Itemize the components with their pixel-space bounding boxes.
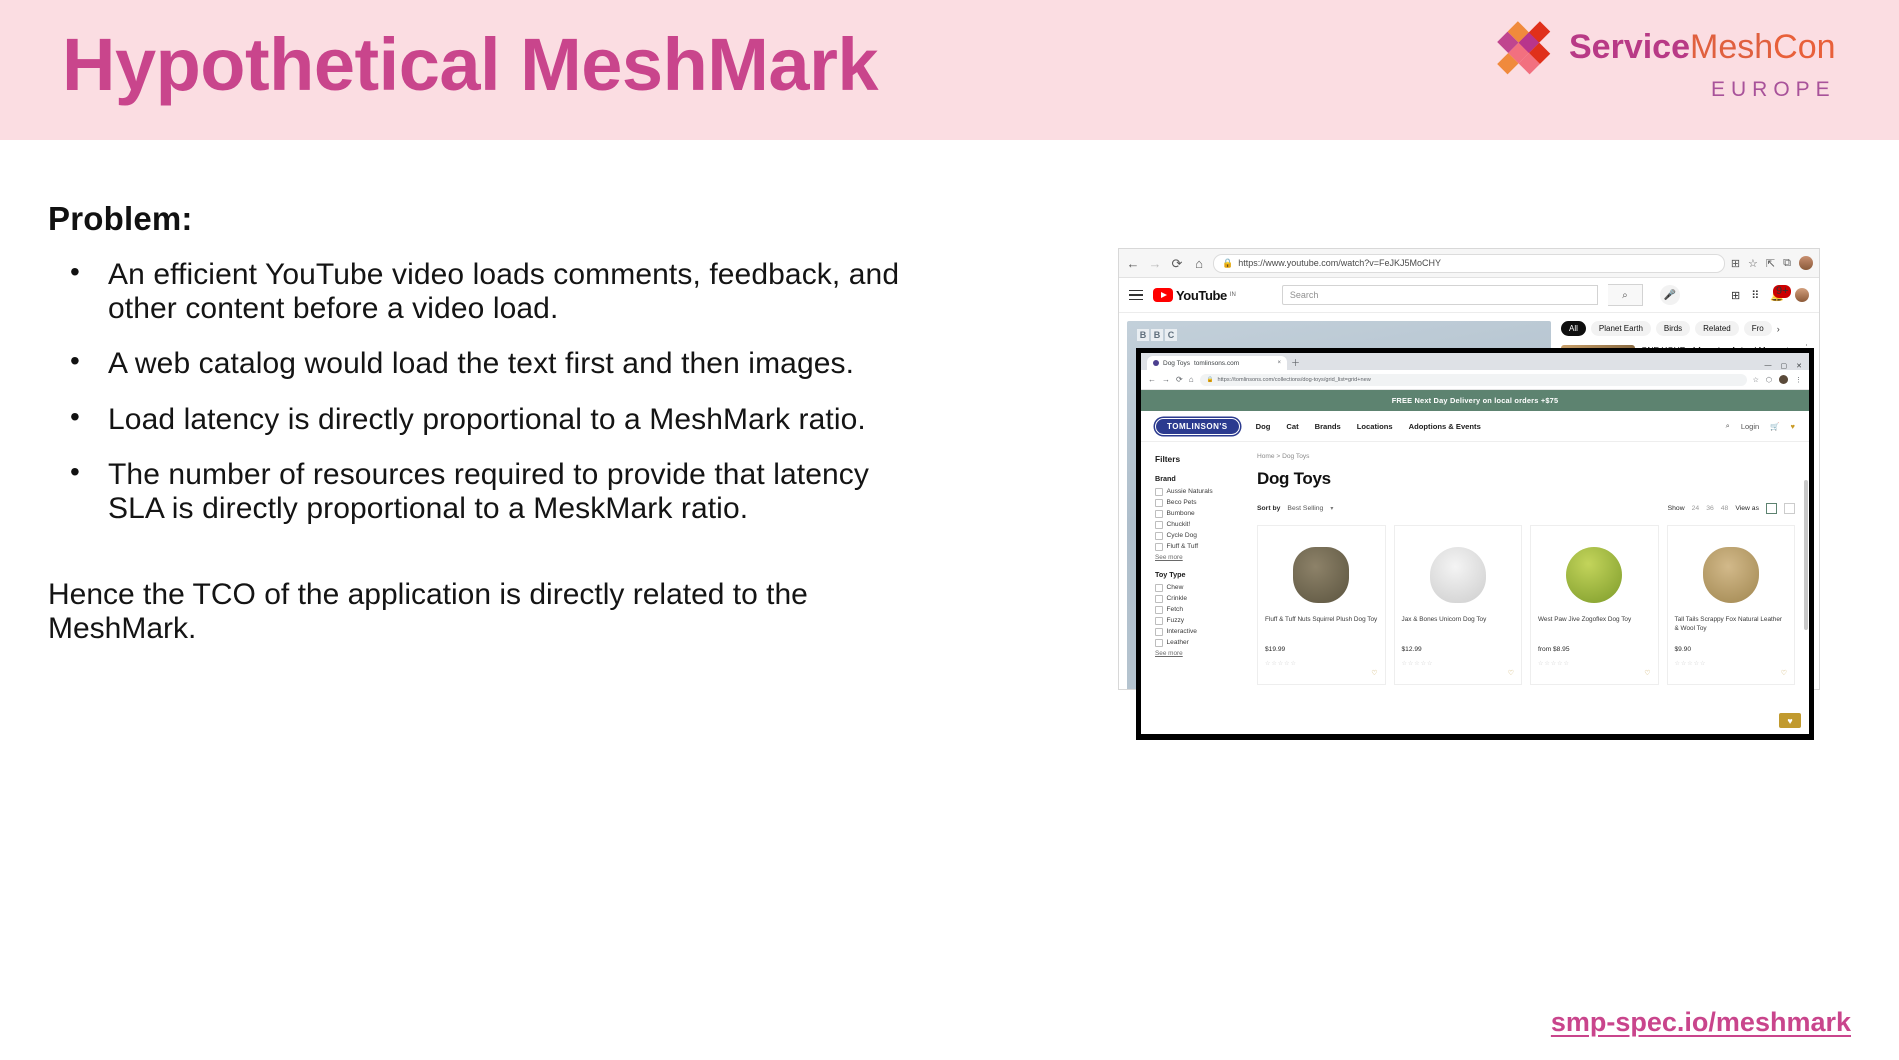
closing-paragraph: Hence the TCO of the application is dire…: [48, 578, 808, 647]
product-price: $9.90: [1675, 646, 1788, 653]
favorite-icon[interactable]: ☆: [1748, 257, 1758, 270]
minimize-icon[interactable]: —: [1765, 362, 1772, 370]
close-window-icon[interactable]: ✕: [1796, 362, 1802, 370]
browser-tab[interactable]: Dog Toys tomlinsons.com ×: [1147, 356, 1287, 370]
problem-heading: Problem:: [48, 200, 908, 238]
product-name: West Paw Jive Zogoflex Dog Toy: [1538, 616, 1651, 640]
slide-body: Problem: An efficient YouTube video load…: [48, 200, 908, 647]
filter-option[interactable]: Chew: [1155, 584, 1239, 592]
filter-label: Crinkle: [1167, 595, 1188, 602]
notifications-icon[interactable]: 🔔 9+: [1770, 289, 1784, 302]
scrollbar[interactable]: [1804, 480, 1808, 630]
product-image: [1675, 534, 1788, 616]
bbc-watermark-icon: B B C: [1137, 329, 1177, 341]
product-card[interactable]: Jax & Bones Unicorn Dog Toy $12.99 ☆☆☆☆☆…: [1394, 525, 1523, 685]
grid-view-icon[interactable]: [1766, 503, 1777, 514]
youtube-masthead: YouTube IN Search ⌕ 🎤 ⊞ ⠿ 🔔 9+: [1119, 278, 1819, 313]
product-name: Tall Tails Scrappy Fox Natural Leather &…: [1675, 616, 1788, 640]
rating-stars: ☆☆☆☆☆: [1538, 660, 1651, 667]
sort-label: Sort by: [1257, 505, 1280, 512]
add-to-wishlist-icon[interactable]: ♡: [1781, 669, 1787, 677]
youtube-account-icons: ⊞ ⠿ 🔔 9+: [1731, 288, 1809, 302]
browser-menu-icon[interactable]: ⋮: [1795, 376, 1802, 384]
tomlinsons-browser-window: Dog Toys tomlinsons.com × ＋ — ▢ ✕ ← → ⟳ …: [1136, 348, 1814, 740]
close-icon[interactable]: ×: [1277, 360, 1281, 366]
search-icon[interactable]: ⌕: [1608, 284, 1643, 306]
list-item: Load latency is directly proportional to…: [48, 403, 908, 437]
search-icon[interactable]: ⌕: [1726, 421, 1730, 431]
microphone-icon[interactable]: 🎤: [1660, 285, 1680, 305]
nav-item-dog[interactable]: Dog: [1256, 422, 1271, 431]
filter-label: Chuckit!: [1167, 521, 1191, 528]
product-card[interactable]: Tall Tails Scrappy Fox Natural Leather &…: [1667, 525, 1796, 685]
unicorn-plush-icon: [1430, 547, 1486, 603]
extensions-icon[interactable]: ⬡: [1766, 376, 1772, 384]
checkbox-icon[interactable]: [1155, 543, 1163, 551]
filters-title: Filters: [1155, 454, 1239, 464]
tomlinsons-browser-inner: Dog Toys tomlinsons.com × ＋ — ▢ ✕ ← → ⟳ …: [1141, 353, 1809, 734]
tomlinsons-toolbar-icons: ☆ ⬡ ⋮: [1753, 375, 1802, 384]
filter-option[interactable]: Beco Pets: [1155, 499, 1239, 507]
cart-icon[interactable]: 🛒: [1770, 422, 1779, 431]
add-to-wishlist-icon[interactable]: ♡: [1644, 669, 1650, 677]
list-item: A web catalog would load the text first …: [48, 347, 908, 381]
product-image: [1265, 534, 1378, 616]
checkbox-icon[interactable]: [1155, 639, 1163, 647]
favicon-icon: [1153, 360, 1159, 366]
checkbox-icon[interactable]: [1155, 606, 1163, 614]
site-nav-actions: ⌕ Login 🛒 ♥: [1726, 421, 1795, 431]
rating-stars: ☆☆☆☆☆: [1265, 660, 1378, 667]
tomlinsons-logo[interactable]: TOMLINSON'S: [1155, 418, 1240, 435]
youtube-address-bar[interactable]: 🔒 https://www.youtube.com/watch?v=FeJKJ5…: [1213, 254, 1725, 273]
tomlinsons-main: Filters Brand Aussie Naturals Beco Pets …: [1141, 442, 1809, 734]
show-option-24[interactable]: 24: [1692, 505, 1700, 512]
show-label: Show: [1668, 505, 1685, 512]
list-item: An efficient YouTube video loads comment…: [48, 258, 908, 325]
sort-select[interactable]: Best Selling: [1287, 505, 1323, 512]
add-to-wishlist-icon[interactable]: ♡: [1508, 669, 1514, 677]
tab-subtitle: tomlinsons.com: [1194, 360, 1239, 367]
site-navigation: TOMLINSON'S Dog Cat Brands Locations Ado…: [1141, 411, 1809, 442]
youtube-browser-chrome: ← → ⟳ ⌂ 🔒 https://www.youtube.com/watch?…: [1119, 249, 1819, 278]
forward-icon[interactable]: →: [1162, 375, 1170, 384]
list-view-icon[interactable]: [1784, 503, 1795, 514]
checkbox-icon[interactable]: [1155, 510, 1163, 518]
chevron-down-icon[interactable]: ▾: [1330, 505, 1333, 512]
bookmark-star-icon[interactable]: ☆: [1753, 376, 1759, 384]
checkbox-icon[interactable]: [1155, 617, 1163, 625]
checkbox-icon[interactable]: [1155, 532, 1163, 540]
logo-region-label: EUROPE: [1711, 78, 1836, 102]
browser-essentials-icon[interactable]: ⧉: [1783, 257, 1791, 270]
add-to-wishlist-icon[interactable]: ♡: [1371, 669, 1377, 677]
chip-related[interactable]: Related: [1695, 321, 1739, 336]
browser-screenshot-composite: ← → ⟳ ⌂ 🔒 https://www.youtube.com/watch?…: [1118, 248, 1818, 748]
problem-bullet-list: An efficient YouTube video loads comment…: [48, 258, 908, 526]
rating-stars: ☆☆☆☆☆: [1675, 660, 1788, 667]
zogoflex-ball-icon: [1566, 547, 1622, 603]
rating-stars: ☆☆☆☆☆: [1402, 660, 1515, 667]
new-tab-icon[interactable]: ＋: [1291, 359, 1300, 370]
filter-option[interactable]: Aussie Naturals: [1155, 488, 1239, 496]
diamond-cluster-icon: [1483, 14, 1561, 92]
product-name: Jax & Bones Unicorn Dog Toy: [1402, 616, 1515, 640]
filter-group-toytype-label: Toy Type: [1155, 570, 1239, 579]
product-price: $19.99: [1265, 646, 1378, 653]
bbc-letter: B: [1151, 329, 1163, 341]
search-input[interactable]: Search: [1282, 285, 1598, 305]
page-title: Hypothetical MeshMark: [62, 22, 878, 107]
product-card[interactable]: West Paw Jive Zogoflex Dog Toy from $8.9…: [1530, 525, 1659, 685]
view-as-label: View as: [1735, 505, 1759, 512]
checkbox-icon[interactable]: [1155, 488, 1163, 496]
see-more-brand-link[interactable]: See more: [1155, 554, 1239, 561]
filter-label: Chew: [1167, 584, 1184, 591]
show-option-48[interactable]: 48: [1721, 505, 1729, 512]
play-icon: [1153, 288, 1173, 302]
nav-item-brands[interactable]: Brands: [1315, 422, 1341, 431]
filter-label: Bumbone: [1167, 510, 1195, 517]
filter-option[interactable]: Chuckit!: [1155, 521, 1239, 529]
squirrel-plush-icon: [1293, 547, 1349, 603]
filter-option[interactable]: Fetch: [1155, 606, 1239, 614]
chip-all[interactable]: All: [1561, 321, 1586, 336]
lock-icon: 🔒: [1222, 258, 1233, 269]
profile-avatar[interactable]: [1799, 256, 1813, 270]
product-card[interactable]: Fluff & Tuff Nuts Squirrel Plush Dog Toy…: [1257, 525, 1386, 685]
home-icon[interactable]: ⌂: [1191, 257, 1207, 270]
filter-label: Cycle Dog: [1167, 532, 1197, 539]
filter-label: Fetch: [1167, 606, 1184, 613]
checkbox-icon[interactable]: [1155, 584, 1163, 592]
bbc-letter: C: [1165, 329, 1177, 341]
filter-option[interactable]: Cycle Dog: [1155, 532, 1239, 540]
list-item: The number of resources required to prov…: [48, 458, 908, 525]
logo-service-text: Service: [1569, 28, 1690, 66]
filter-label: Fuzzy: [1167, 617, 1185, 624]
show-option-36[interactable]: 36: [1706, 505, 1714, 512]
filter-option[interactable]: Interactive: [1155, 628, 1239, 636]
collections-icon[interactable]: ⇱: [1766, 257, 1775, 270]
chevron-right-icon[interactable]: ›: [1777, 324, 1780, 334]
profile-avatar[interactable]: [1779, 375, 1788, 384]
filter-label: Aussie Naturals: [1167, 488, 1213, 495]
fox-leather-toy-icon: [1703, 547, 1759, 603]
filter-group-brand-label: Brand: [1155, 474, 1239, 483]
filter-option[interactable]: Fluff & Tuff: [1155, 543, 1239, 551]
wishlist-heart-icon[interactable]: ♥: [1791, 422, 1795, 431]
filter-label: Interactive: [1167, 628, 1197, 635]
filter-option[interactable]: Bumbone: [1155, 510, 1239, 518]
split-screen-icon[interactable]: ⊞: [1731, 257, 1740, 270]
menu-icon[interactable]: [1129, 290, 1143, 301]
sort-and-view-controls: Sort by Best Selling ▾ Show 24 36 48 Vie…: [1257, 503, 1795, 514]
back-icon[interactable]: ←: [1148, 375, 1156, 384]
youtube-url-text: https://www.youtube.com/watch?v=FeJKJ5Mo…: [1238, 258, 1441, 268]
checkbox-icon[interactable]: [1155, 628, 1163, 636]
chip-birds[interactable]: Birds: [1656, 321, 1690, 336]
logo-con-text: Con: [1773, 28, 1835, 66]
logo-mesh-text: Mesh: [1690, 28, 1773, 66]
chip-planet-earth[interactable]: Planet Earth: [1591, 321, 1651, 336]
meshmark-spec-link[interactable]: smp-spec.io/meshmark: [1551, 1007, 1851, 1038]
product-price: $12.99: [1402, 646, 1515, 653]
login-link[interactable]: Login: [1741, 422, 1759, 431]
checkbox-icon[interactable]: [1155, 499, 1163, 507]
promo-banner: FREE Next Day Delivery on local orders +…: [1141, 390, 1809, 411]
filter-label: Beco Pets: [1167, 499, 1197, 506]
youtube-country-code: IN: [1230, 292, 1236, 298]
product-price: from $8.95: [1538, 646, 1651, 653]
collection-title: Dog Toys: [1257, 469, 1795, 489]
filter-option[interactable]: Leather: [1155, 639, 1239, 647]
tomlinsons-url-text: https://tomlinsons.com/collections/dog-t…: [1218, 377, 1371, 383]
tomlinsons-address-bar[interactable]: 🔒 https://tomlinsons.com/collections/dog…: [1200, 374, 1747, 386]
browser-toolbar-icons: ⊞ ☆ ⇱ ⧉: [1731, 256, 1813, 270]
maximize-icon[interactable]: ▢: [1781, 362, 1788, 370]
chip-from[interactable]: Fro: [1744, 321, 1772, 336]
product-name: Fluff & Tuff Nuts Squirrel Plush Dog Toy: [1265, 616, 1378, 640]
tab-title: Dog Toys: [1163, 360, 1190, 367]
window-controls: — ▢ ✕: [1765, 362, 1810, 370]
wishlist-floating-button[interactable]: ♥: [1779, 713, 1801, 728]
see-more-toytype-link[interactable]: See more: [1155, 650, 1239, 657]
product-grid: Fluff & Tuff Nuts Squirrel Plush Dog Toy…: [1257, 525, 1795, 685]
notification-count-badge: 9+: [1773, 285, 1791, 298]
checkbox-icon[interactable]: [1155, 521, 1163, 529]
filters-sidebar: Filters Brand Aussie Naturals Beco Pets …: [1141, 442, 1249, 734]
show-count-controls: Show 24 36 48 View as: [1668, 503, 1795, 514]
back-icon[interactable]: ←: [1125, 257, 1141, 270]
youtube-logo[interactable]: YouTube IN: [1153, 288, 1236, 303]
filter-label: Leather: [1167, 639, 1189, 646]
filter-option[interactable]: Fuzzy: [1155, 617, 1239, 625]
youtube-wordmark: YouTube: [1176, 288, 1227, 303]
tomlinsons-tab-strip: Dog Toys tomlinsons.com × ＋ — ▢ ✕: [1141, 353, 1809, 370]
product-image: [1538, 534, 1651, 616]
reload-icon[interactable]: ⟳: [1176, 375, 1183, 384]
avatar[interactable]: [1795, 288, 1809, 302]
product-image: [1402, 534, 1515, 616]
breadcrumb: Home > Dog Toys: [1257, 453, 1795, 460]
servicemeshcon-logo: ServiceMeshCon EUROPE: [1469, 8, 1869, 118]
filter-label: Fluff & Tuff: [1167, 543, 1199, 550]
nav-item-locations[interactable]: Locations: [1357, 422, 1393, 431]
create-video-icon[interactable]: ⊞: [1731, 289, 1740, 302]
apps-grid-icon[interactable]: ⠿: [1751, 289, 1759, 302]
tomlinsons-browser-chrome: ← → ⟳ ⌂ 🔒 https://tomlinsons.com/collect…: [1141, 370, 1809, 390]
product-listing: Home > Dog Toys Dog Toys Sort by Best Se…: [1249, 442, 1809, 734]
checkbox-icon[interactable]: [1155, 595, 1163, 603]
lock-icon: 🔒: [1207, 377, 1214, 383]
reload-icon[interactable]: ⟳: [1169, 257, 1185, 270]
filter-option[interactable]: Crinkle: [1155, 595, 1239, 603]
bbc-letter: B: [1137, 329, 1149, 341]
home-icon[interactable]: ⌂: [1189, 375, 1194, 384]
filter-chip-row: All Planet Earth Birds Related Fro ›: [1561, 321, 1811, 336]
nav-item-cat[interactable]: Cat: [1286, 422, 1298, 431]
forward-icon[interactable]: →: [1147, 257, 1163, 270]
slide-header-band: Hypothetical MeshMark ServiceMeshCon EUR…: [0, 0, 1899, 140]
nav-item-adoptions-events[interactable]: Adoptions & Events: [1409, 422, 1481, 431]
logo-wordmark: ServiceMeshCon: [1569, 28, 1836, 67]
